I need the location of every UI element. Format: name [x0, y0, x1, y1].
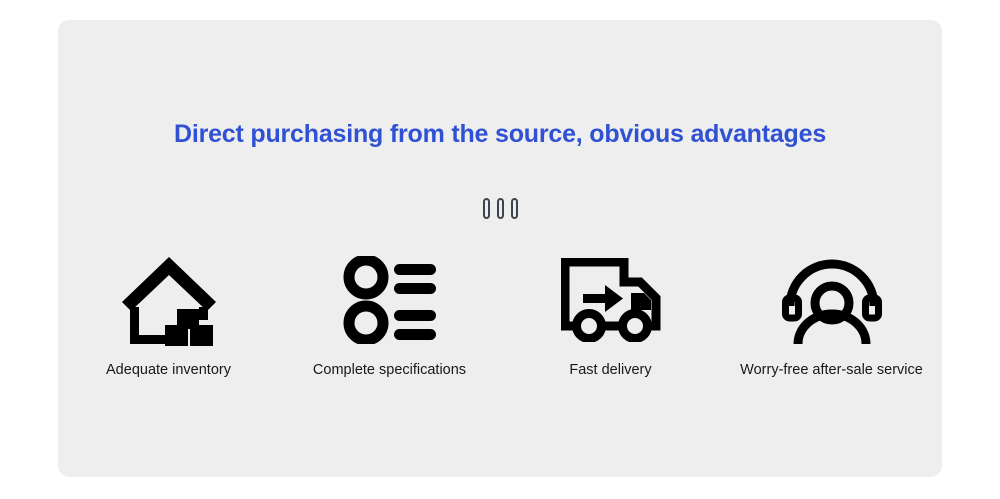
warehouse-house-boxes-icon — [119, 252, 219, 348]
divider-pill-3 — [511, 198, 518, 219]
page-title: Direct purchasing from the source, obvio… — [58, 120, 942, 149]
divider-pill-2 — [497, 198, 504, 219]
specification-list-icon — [342, 252, 438, 348]
feature-adequate-inventory: Adequate inventory — [58, 252, 279, 378]
page-root: Direct purchasing from the source, obvio… — [0, 0, 1000, 499]
feature-label: Fast delivery — [569, 362, 651, 378]
features-row: Adequate inventory Complete specificatio… — [58, 252, 942, 378]
feature-label: Adequate inventory — [106, 362, 231, 378]
delivery-truck-icon — [561, 252, 661, 348]
feature-label: Complete specifications — [313, 362, 466, 378]
triple-pill-divider — [58, 198, 942, 219]
feature-complete-specifications: Complete specifications — [279, 252, 500, 378]
feature-label: Worry-free after-sale service — [740, 362, 923, 378]
headset-support-agent-icon — [782, 252, 882, 348]
advantages-card: Direct purchasing from the source, obvio… — [58, 20, 942, 477]
feature-fast-delivery: Fast delivery — [500, 252, 721, 378]
feature-after-sale-service: Worry-free after-sale service — [721, 252, 942, 378]
divider-pill-1 — [483, 198, 490, 219]
